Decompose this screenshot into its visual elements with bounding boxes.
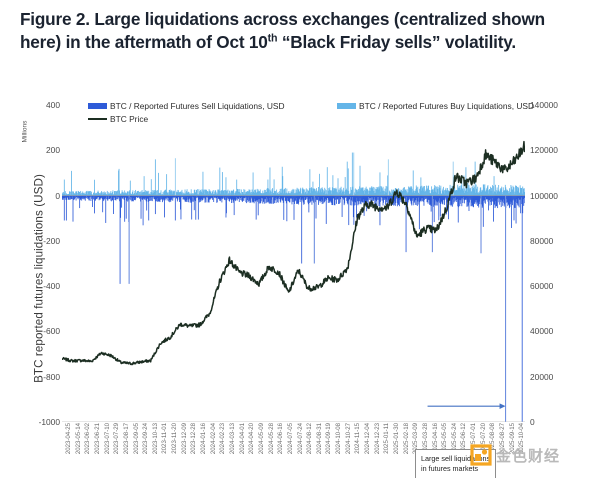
x-axis-tick: 2024-04-01 xyxy=(239,423,246,454)
x-axis-tick: 2023-04-25 xyxy=(65,423,72,454)
x-axis-tick: 2024-01-16 xyxy=(200,423,207,454)
x-axis-tick: 2024-07-24 xyxy=(297,423,304,454)
watermark-text: 金色财经 xyxy=(496,445,560,466)
y-axis-tick-left: -400 xyxy=(14,281,60,291)
y-axis-tick-left: -1000 xyxy=(14,417,60,427)
y-axis-right: 140000120000100000800006000040000200000 xyxy=(530,92,594,478)
caption-ordinal-suffix: th xyxy=(268,32,278,44)
y-axis-left: 4002000-200-400-600-800-1000 xyxy=(10,92,60,478)
x-axis-tick: 2023-10-13 xyxy=(152,423,159,454)
btc-price-line xyxy=(62,142,525,365)
x-axis-tick: 2024-05-09 xyxy=(258,423,265,454)
y-axis-tick-left: 0 xyxy=(14,191,60,201)
x-axis-tick: 2024-07-05 xyxy=(287,423,294,454)
y-axis-tick-left: -600 xyxy=(14,326,60,336)
x-axis-tick: 2024-10-27 xyxy=(345,423,352,454)
x-axis-tick: 2024-11-15 xyxy=(354,423,361,454)
x-axis-tick: 2023-11-01 xyxy=(161,423,168,454)
x-axis-tick: 2024-03-13 xyxy=(229,423,236,454)
y-axis-tick-right: 80000 xyxy=(530,236,590,246)
figure-caption: Figure 2. Large liquidations across exch… xyxy=(20,8,586,54)
x-axis-tick: 2023-06-02 xyxy=(84,423,91,454)
annotation-arrow xyxy=(428,403,506,409)
chart: BTC / Reported Futures Sell Liquidations… xyxy=(0,92,600,478)
x-axis-tick: 2024-08-31 xyxy=(316,423,323,454)
buy-liquidation-bars xyxy=(62,153,524,196)
x-axis-tick: 2025-02-18 xyxy=(403,423,410,454)
caption-suffix: “Black Friday sells” volatility. xyxy=(277,32,516,52)
y-axis-tick-left: -800 xyxy=(14,372,60,382)
x-axis-tick: 2024-06-16 xyxy=(277,423,284,454)
y-axis-tick-left: -200 xyxy=(14,236,60,246)
x-axis-tick: 2024-10-08 xyxy=(335,423,342,454)
y-axis-tick-right: 20000 xyxy=(530,372,590,382)
x-axis-tick: 2024-05-28 xyxy=(268,423,275,454)
y-axis-tick-right: 0 xyxy=(530,417,590,427)
x-axis-tick: 2023-08-17 xyxy=(123,423,130,454)
x-axis-tick: 2024-12-23 xyxy=(374,423,381,454)
x-axis-tick: 2025-01-11 xyxy=(383,423,390,454)
y-axis-tick-right: 40000 xyxy=(530,326,590,336)
x-axis-tick: 2023-11-20 xyxy=(171,423,178,454)
x-axis-tick: 2024-02-23 xyxy=(219,423,226,454)
x-axis-tick: 2024-04-20 xyxy=(248,423,255,454)
y-axis-tick-right: 120000 xyxy=(530,145,590,155)
x-axis-tick: 2024-09-19 xyxy=(325,423,332,454)
x-axis-tick: 2023-07-10 xyxy=(104,423,111,454)
watermark: 金色财经 xyxy=(470,444,560,466)
figure-container: Figure 2. Large liquidations across exch… xyxy=(0,0,600,478)
x-axis-tick: 2024-02-04 xyxy=(210,423,217,454)
x-axis-tick: 2023-09-05 xyxy=(133,423,140,454)
plot-svg xyxy=(62,105,525,422)
y-axis-tick-right: 100000 xyxy=(530,191,590,201)
y-axis-tick-left: 200 xyxy=(14,145,60,155)
y-axis-tick-left: 400 xyxy=(14,100,60,110)
x-axis-tick: 2023-06-21 xyxy=(94,423,101,454)
x-axis-tick: 2025-01-30 xyxy=(393,423,400,454)
x-axis-tick: 2023-07-29 xyxy=(113,423,120,454)
x-axis-tick: 2024-08-12 xyxy=(306,423,313,454)
x-axis-tick: 2023-09-24 xyxy=(142,423,149,454)
x-axis-tick: 2023-05-14 xyxy=(75,423,82,454)
sell-liquidation-bars xyxy=(62,196,524,422)
x-axis-tick: 2023-12-28 xyxy=(190,423,197,454)
watermark-logo-icon xyxy=(470,444,492,466)
x-axis-tick: 2024-12-04 xyxy=(364,423,371,454)
plot-area xyxy=(62,105,525,422)
x-axis-tick: 2023-12-09 xyxy=(181,423,188,454)
y-axis-tick-right: 60000 xyxy=(530,281,590,291)
y-axis-tick-right: 140000 xyxy=(530,100,590,110)
